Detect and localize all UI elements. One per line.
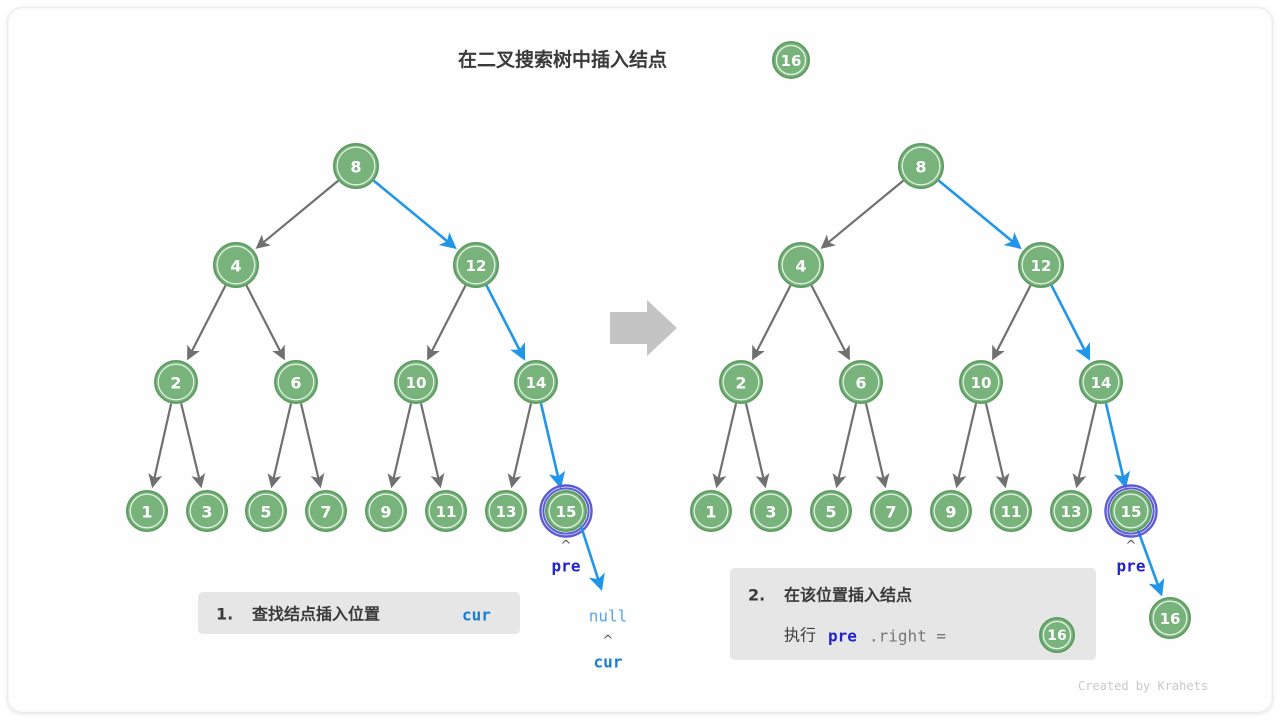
null-label-left: null [589, 607, 628, 626]
node-label: 7 [885, 503, 896, 522]
pre-caret-left: ^ [561, 539, 572, 554]
tree-node-9[interactable]: 9 [931, 491, 971, 531]
node-label: 11 [1001, 503, 1022, 521]
node-label: 3 [765, 503, 776, 522]
step-2-code-rest: .right = [869, 627, 946, 646]
credit-text: Created by Krahets [1078, 679, 1208, 693]
tree-node-16[interactable]: 16 [1150, 598, 1190, 638]
tree-node-10[interactable]: 10 [395, 361, 437, 403]
tree-node-7[interactable]: 7 [871, 491, 911, 531]
node-label: 6 [855, 374, 866, 393]
node-label: 3 [201, 503, 212, 522]
step-2-badge-16: 16 [1040, 618, 1074, 652]
step-2-box [730, 568, 1096, 660]
tree-node-11[interactable]: 11 [426, 491, 466, 531]
node-label: 15 [556, 503, 577, 521]
node-label: 2 [735, 374, 746, 393]
tree-node-2[interactable]: 2 [155, 361, 197, 403]
title-badge-16: 16 [773, 42, 809, 78]
step-2-callout: 2. 在该位置插入结点 执行 pre .right = 16 [730, 568, 1096, 660]
node-label: 9 [380, 503, 391, 522]
node-label: 13 [496, 503, 517, 521]
tree-node-11[interactable]: 11 [991, 491, 1031, 531]
tree-node-4[interactable]: 4 [779, 243, 823, 287]
title-badge-label: 16 [781, 52, 802, 70]
tree-node-5[interactable]: 5 [811, 491, 851, 531]
tree-node-3[interactable]: 3 [187, 491, 227, 531]
pointer-cur-left: cur [594, 653, 623, 672]
tree-node-13[interactable]: 13 [486, 491, 526, 531]
tree-node-7[interactable]: 7 [306, 491, 346, 531]
pointer-pre-left: pre [552, 557, 581, 576]
tree-node-6[interactable]: 6 [275, 361, 317, 403]
diagram-canvas: 在二叉搜索树中插入结点 16 841226101413579111315 ^ p… [0, 0, 1280, 720]
tree-node-10[interactable]: 10 [960, 361, 1002, 403]
node-label: 14 [526, 374, 547, 392]
node-label: 10 [971, 374, 992, 392]
step-2-badge-label: 16 [1047, 628, 1066, 644]
node-label: 12 [1031, 257, 1052, 275]
node-label: 5 [825, 503, 836, 522]
node-label: 9 [945, 503, 956, 522]
cur-caret-left: ^ [603, 634, 614, 649]
step-2-number: 2. [748, 586, 765, 605]
node-label: 13 [1061, 503, 1082, 521]
node-label: 5 [260, 503, 271, 522]
tree-node-1[interactable]: 1 [691, 491, 731, 531]
tree-node-6[interactable]: 6 [840, 361, 882, 403]
step-2-title: 在该位置插入结点 [784, 586, 912, 605]
step-2-line2-prefix: 执行 [784, 626, 816, 645]
node-label: 15 [1121, 503, 1142, 521]
node-label: 14 [1091, 374, 1112, 392]
tree-node-12[interactable]: 12 [454, 243, 498, 287]
tree-node-14[interactable]: 14 [515, 361, 557, 403]
step-1-number: 1. [216, 605, 233, 624]
tree-node-3[interactable]: 3 [751, 491, 791, 531]
step-1-callout: 1. 查找结点插入位置 cur [198, 592, 520, 634]
node-label: 11 [436, 503, 457, 521]
node-label: 7 [320, 503, 331, 522]
tree-node-9[interactable]: 9 [366, 491, 406, 531]
pre-caret-right: ^ [1126, 539, 1137, 554]
tree-node-14[interactable]: 14 [1080, 361, 1122, 403]
tree-node-4[interactable]: 4 [214, 243, 258, 287]
node-label: 6 [290, 374, 301, 393]
node-label: 4 [795, 257, 806, 276]
step-1-text: 查找结点插入位置 [252, 605, 380, 624]
node-label: 8 [915, 158, 926, 177]
node-label: 1 [141, 503, 152, 522]
tree-node-5[interactable]: 5 [246, 491, 286, 531]
node-label: 2 [170, 374, 181, 393]
tree-node-1[interactable]: 1 [127, 491, 167, 531]
pointer-pre-right: pre [1117, 557, 1146, 576]
page-title-text: 在二叉搜索树中插入结点 [458, 48, 667, 71]
tree-node-13[interactable]: 13 [1051, 491, 1091, 531]
page-title: 在二叉搜索树中插入结点 [458, 48, 667, 71]
node-label: 4 [230, 257, 241, 276]
step-1-pointer-cur: cur [462, 606, 491, 625]
tree-node-15[interactable]: 15 [1106, 486, 1157, 537]
tree-node-15[interactable]: 15 [541, 486, 592, 537]
tree-node-2[interactable]: 2 [720, 361, 762, 403]
node-label: 16 [1160, 610, 1181, 628]
step-2-code-pre: pre [828, 627, 857, 646]
node-label: 1 [705, 503, 716, 522]
tree-node-12[interactable]: 12 [1019, 243, 1063, 287]
tree-node-8[interactable]: 8 [334, 144, 378, 188]
node-label: 8 [350, 158, 361, 177]
node-label: 12 [466, 257, 487, 275]
node-label: 10 [406, 374, 427, 392]
tree-node-8[interactable]: 8 [899, 144, 943, 188]
